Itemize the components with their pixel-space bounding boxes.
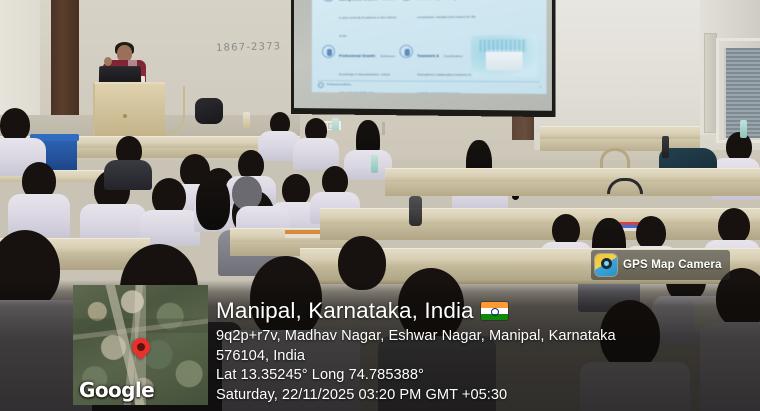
water-bottle <box>243 112 250 128</box>
slide-cell: Saving Lives: Enables clinicians to give… <box>322 0 397 42</box>
podium-knob <box>123 114 127 118</box>
map-thumbnail[interactable]: Google <box>73 285 208 405</box>
slide-illustration <box>471 35 538 77</box>
presentation-slide: Saving Lives: Enables clinicians to give… <box>312 0 547 94</box>
projection-screen: Saving Lives: Enables clinicians to give… <box>291 0 555 117</box>
india-flag-icon <box>481 302 508 320</box>
person-icon <box>322 45 335 58</box>
slide-page-number: 7 <box>539 85 541 89</box>
location-info-block: Manipal, Karnataka, India 9q2p+r7v, Madh… <box>216 297 736 405</box>
location-address-line-1: 9q2p+r7v, Madhav Nagar, Eshwar Nagar, Ma… <box>216 327 736 347</box>
backpack-black <box>195 98 223 124</box>
slide-footer-logo-icon <box>318 82 324 88</box>
gps-map-camera-icon <box>595 254 617 276</box>
tumbler <box>409 196 422 226</box>
slide-cell-body: clinicians to give correctly ill patient… <box>339 0 397 38</box>
socket-cable <box>382 122 385 135</box>
slide-cell-heading: Professional Growth: <box>339 54 376 58</box>
presenter-hand <box>104 57 112 66</box>
slide-cell-heading: Teamwork & <box>417 54 439 58</box>
desk-row-2-front <box>385 182 760 196</box>
slide-bullet-grid: Saving Lives: Enables clinicians to give… <box>322 0 477 75</box>
slide-cell-heading: Saving Lives: Enables <box>339 0 378 2</box>
gps-camera-photo: Saving Lives: Enables clinicians to give… <box>0 0 760 411</box>
water-bottle <box>371 155 378 173</box>
location-timestamp: Saturday, 22/11/2025 03:20 PM GMT +05:30 <box>216 386 736 406</box>
slide-cell-heading: Ethical Responsibility <box>417 0 456 1</box>
slide-cell: Ethical Responsibility Promotes compassi… <box>399 0 477 42</box>
podium <box>93 82 165 140</box>
wall-column-left <box>51 0 79 129</box>
syringe-icon <box>322 0 335 2</box>
desk-row-back-right <box>540 126 700 139</box>
location-coordinates: Lat 13.35245° Long 74.785388° <box>216 366 736 386</box>
gps-map-camera-label: GPS Map Camera <box>623 259 722 271</box>
desk-row-3 <box>320 208 760 224</box>
projection-screen-surface: Saving Lives: Enables clinicians to give… <box>294 0 552 111</box>
water-bottle <box>662 136 669 158</box>
location-title: Manipal, Karnataka, India <box>216 297 474 324</box>
balance-icon <box>399 0 412 1</box>
google-watermark: Google <box>79 378 154 402</box>
whiteboard-text: 1867-2373 <box>216 41 282 54</box>
water-bottle <box>332 118 339 131</box>
slide-cell-body: Promotes compassion, integrity and respe… <box>417 0 476 19</box>
gps-map-camera-watermark: GPS Map Camera <box>591 250 730 280</box>
desk-row-3-front <box>320 224 760 240</box>
location-address-line-2: 576104, India <box>216 347 736 367</box>
team-icon <box>399 45 412 58</box>
slide-footer: Professional Ethics <box>318 80 540 90</box>
location-title-row: Manipal, Karnataka, India <box>216 297 736 324</box>
water-bottle <box>740 120 747 138</box>
slide-footer-text: Professional Ethics <box>327 84 351 88</box>
desk-row-2 <box>385 168 760 182</box>
